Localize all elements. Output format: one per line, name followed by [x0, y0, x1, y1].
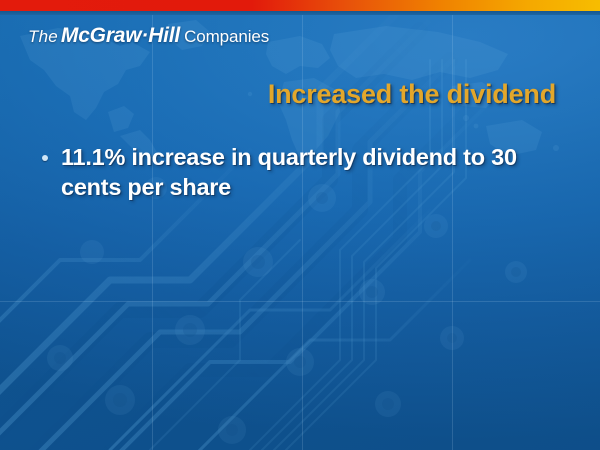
logo-word-brand: McGraw·Hill: [61, 24, 180, 47]
logo-word-companies: Companies: [184, 27, 269, 46]
mcgraw-hill-logo: TheMcGraw·HillCompanies: [28, 25, 269, 46]
brand-bar-underline: [0, 11, 600, 15]
logo-word-the: The: [28, 27, 58, 46]
grid-line-horizontal: [0, 301, 600, 302]
bullet-item-text: 11.1% increase in quarterly dividend to …: [61, 142, 572, 202]
bullet-point-icon: [42, 155, 48, 161]
grid-line-vertical: [152, 14, 153, 450]
background-grid-lines: [0, 0, 600, 450]
presentation-slide: TheMcGraw·HillCompanies Increased the di…: [0, 0, 600, 450]
brand-gradient-bar: [0, 0, 600, 11]
bullet-list-item: 11.1% increase in quarterly dividend to …: [42, 142, 572, 202]
slide-body: 11.1% increase in quarterly dividend to …: [42, 142, 572, 202]
slide-title: Increased the dividend: [268, 79, 556, 110]
